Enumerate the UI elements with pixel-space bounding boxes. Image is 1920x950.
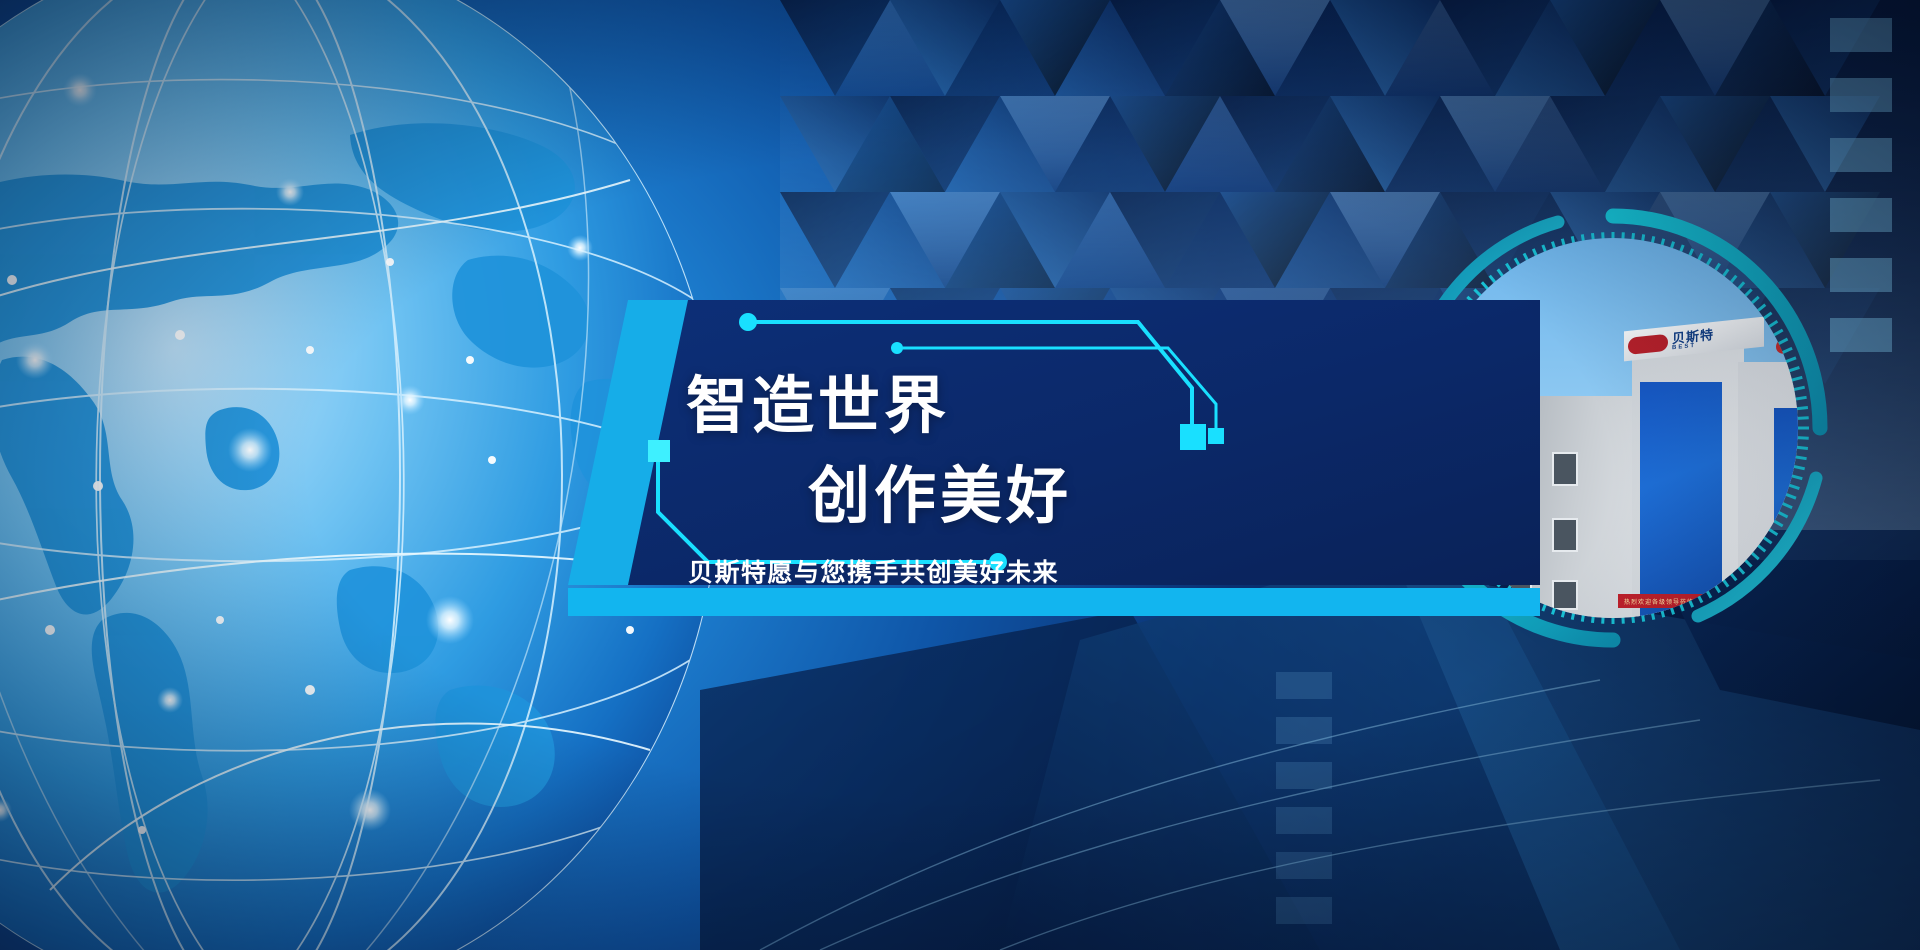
edge-block	[1830, 258, 1892, 292]
mid-block	[1276, 897, 1332, 924]
edge-block	[1830, 198, 1892, 232]
tagline-text: 贝斯特愿与您携手共创美好未来	[688, 553, 1059, 589]
mid-block	[1276, 672, 1332, 699]
mid-block	[1276, 717, 1332, 744]
edge-block	[1830, 318, 1892, 352]
headline-line-2: 创作美好	[808, 445, 1072, 535]
sign-dot-icon	[1776, 337, 1791, 354]
building-glass-curtain	[1640, 382, 1722, 618]
edge-block	[1830, 138, 1892, 172]
sign-secondary-text: 精密制造	[1794, 336, 1798, 350]
mid-block	[1276, 807, 1332, 834]
right-edge-block-strip	[1830, 18, 1892, 352]
edge-block	[1830, 18, 1892, 52]
mid-block	[1276, 762, 1332, 789]
mid-block-strip	[1276, 672, 1332, 924]
building-glass-curtain-right	[1774, 408, 1798, 618]
headline-line-1: 智造世界	[686, 355, 950, 445]
sign-logo-red-icon	[1628, 333, 1668, 354]
hero-banner: 贝斯特 BEST 精密制造 热烈欢迎各级领导莅临指导	[0, 0, 1920, 950]
mid-block	[1276, 852, 1332, 879]
headline-panel: 智造世界 创作美好 贝斯特愿与您携手共创美好未来	[540, 300, 1540, 700]
entrance-red-banner: 热烈欢迎各级领导莅临指导	[1618, 594, 1714, 608]
edge-block	[1830, 78, 1892, 112]
